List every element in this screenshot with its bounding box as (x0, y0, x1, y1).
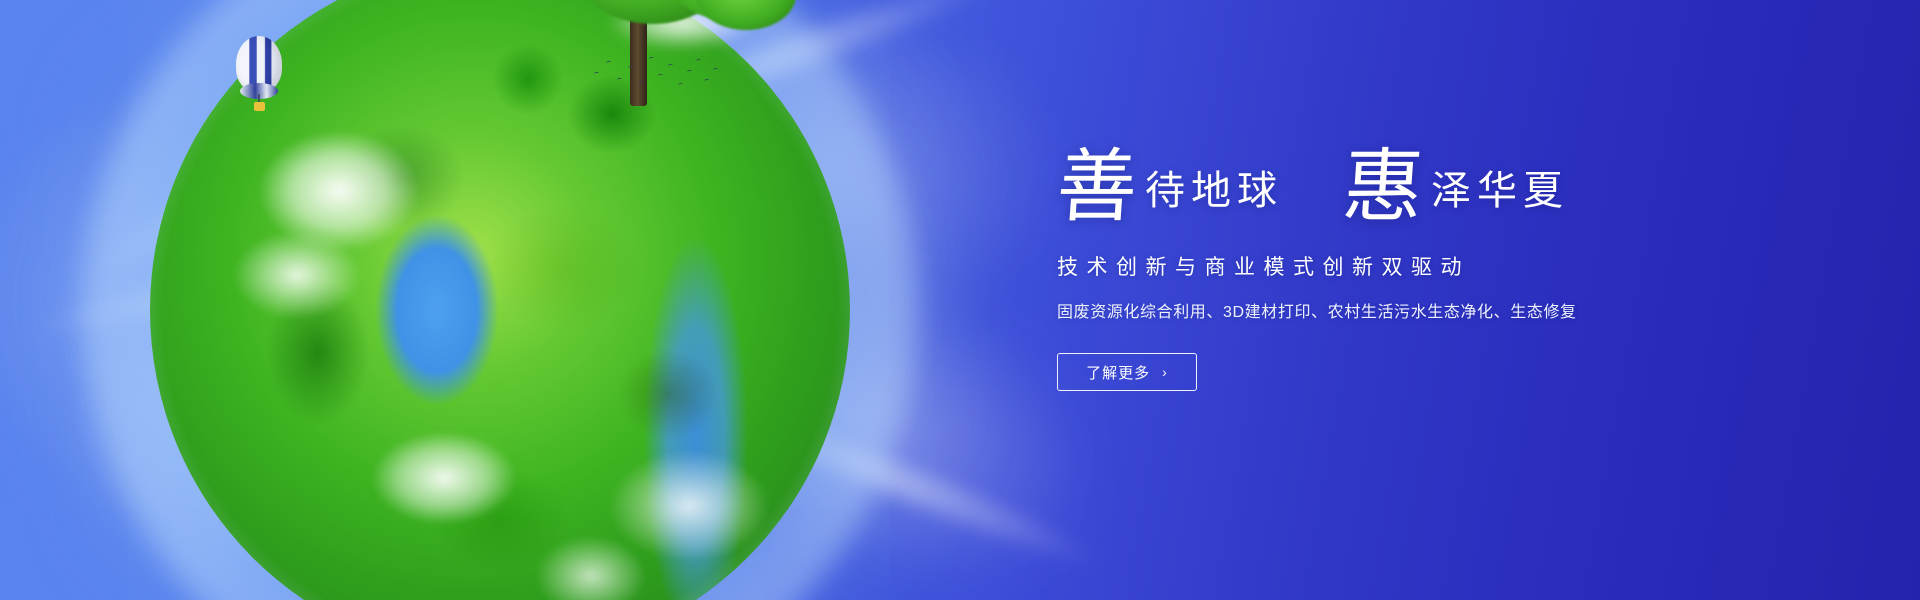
bird-icon (649, 57, 654, 61)
headline-lead-char: 善 (1054, 150, 1139, 224)
headline-lead-char: 惠 (1340, 150, 1425, 224)
bird-icon (617, 78, 622, 82)
balloon-envelope (236, 36, 282, 92)
hero-banner: 善 待地球 惠 泽华夏 技术创新与商业模式创新双驱动 固废资源化综合利用、3D建… (0, 0, 1920, 600)
headline-rest-chars: 待地球 (1145, 171, 1283, 211)
hero-description: 固废资源化综合利用、3D建材打印、农村生活污水生态净化、生态修复 (1057, 302, 1677, 324)
bird-icon (696, 59, 701, 63)
bird-icon (606, 61, 611, 65)
bird-icon (658, 74, 663, 78)
hero-subtitle: 技术创新与商业模式创新双驱动 (1057, 254, 1677, 281)
learn-more-label: 了解更多 (1086, 362, 1150, 383)
chevron-right-icon: › (1162, 365, 1168, 379)
bird-icon (704, 79, 709, 83)
hot-air-balloon-icon (236, 36, 282, 114)
bird-icon (713, 68, 718, 72)
bird-icon (594, 72, 599, 76)
bird-icon (668, 64, 673, 68)
bird-flock-icon (592, 52, 722, 94)
bird-icon (639, 82, 644, 86)
bird-icon (687, 70, 692, 74)
bird-icon (678, 83, 683, 87)
balloon-basket (254, 102, 265, 111)
headline-phrase-1: 善 待地球 (1057, 150, 1283, 224)
headline-phrase-2: 惠 泽华夏 (1343, 150, 1569, 224)
hero-copy: 善 待地球 惠 泽华夏 技术创新与商业模式创新双驱动 固废资源化综合利用、3D建… (1057, 150, 1677, 391)
bird-icon (628, 66, 633, 70)
page-title: 善 待地球 惠 泽华夏 (1057, 150, 1677, 224)
headline-rest-chars: 泽华夏 (1431, 171, 1569, 211)
learn-more-button[interactable]: 了解更多 › (1057, 353, 1197, 391)
